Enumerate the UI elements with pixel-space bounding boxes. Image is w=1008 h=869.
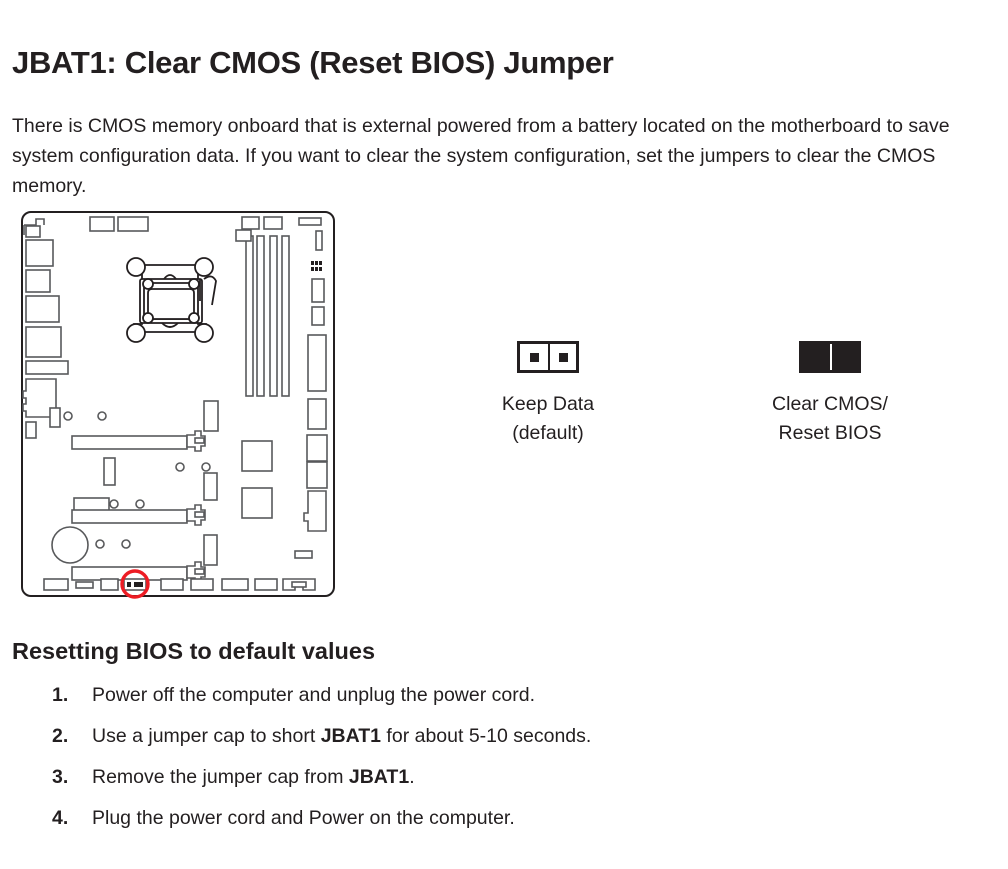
jumper-keep-data-label: Keep Data (default)	[446, 390, 650, 448]
section-title: Resetting BIOS to default values	[12, 638, 375, 665]
jumper-clear-cmos-label-line2: Reset BIOS	[728, 419, 932, 448]
step-text: Use a jumper cap to short JBAT1 for abou…	[92, 722, 1008, 750]
step-text-pre: Power off the computer and unplug the po…	[92, 684, 535, 706]
step-number: 4.	[52, 804, 92, 832]
jumper-clear-cmos-label: Clear CMOS/ Reset BIOS	[728, 390, 932, 448]
step-text-post: .	[409, 766, 414, 788]
jumper-pin-1	[802, 344, 830, 370]
step-text: Remove the jumper cap from JBAT1.	[92, 763, 1008, 791]
jumper-keep-data-label-line1: Keep Data	[446, 390, 650, 419]
jumper-keep-data-label-line2: (default)	[446, 419, 650, 448]
step-text-pre: Plug the power cord and Power on the com…	[92, 807, 515, 829]
step-number: 1.	[52, 681, 92, 709]
list-item: 3. Remove the jumper cap from JBAT1.	[52, 763, 1008, 791]
page-title: JBAT1: Clear CMOS (Reset BIOS) Jumper	[12, 45, 614, 81]
motherboard-diagram	[14, 203, 344, 603]
step-number: 3.	[52, 763, 92, 791]
jumper-shorted-icon	[799, 341, 861, 373]
reset-steps-list: 1. Power off the computer and unplug the…	[12, 681, 1008, 845]
step-text: Plug the power cord and Power on the com…	[92, 804, 1008, 832]
step-text-pre: Remove the jumper cap from	[92, 766, 349, 788]
jumper-pin-1	[520, 344, 548, 370]
jumper-pin-2	[830, 344, 858, 370]
step-text-pre: Use a jumper cap to short	[92, 725, 321, 747]
step-text-post: for about 5-10 seconds.	[381, 725, 591, 747]
step-number: 2.	[52, 722, 92, 750]
list-item: 4. Plug the power cord and Power on the …	[52, 804, 1008, 832]
jumper-open-icon	[517, 341, 579, 373]
step-text: Power off the computer and unplug the po…	[92, 681, 1008, 709]
step-text-bold: JBAT1	[349, 766, 409, 788]
cpu-socket	[127, 258, 216, 342]
intro-paragraph: There is CMOS memory onboard that is ext…	[12, 111, 997, 201]
document-page: JBAT1: Clear CMOS (Reset BIOS) Jumper Th…	[0, 0, 1008, 869]
jumper-clear-cmos-label-line1: Clear CMOS/	[728, 390, 932, 419]
step-text-bold: JBAT1	[321, 725, 381, 747]
list-item: 2. Use a jumper cap to short JBAT1 for a…	[52, 722, 1008, 750]
jbat1-header	[124, 579, 146, 590]
jumper-clear-cmos: Clear CMOS/ Reset BIOS	[728, 341, 932, 448]
jumper-pin-2	[548, 344, 576, 370]
jumper-keep-data: Keep Data (default)	[446, 341, 650, 448]
list-item: 1. Power off the computer and unplug the…	[52, 681, 1008, 709]
